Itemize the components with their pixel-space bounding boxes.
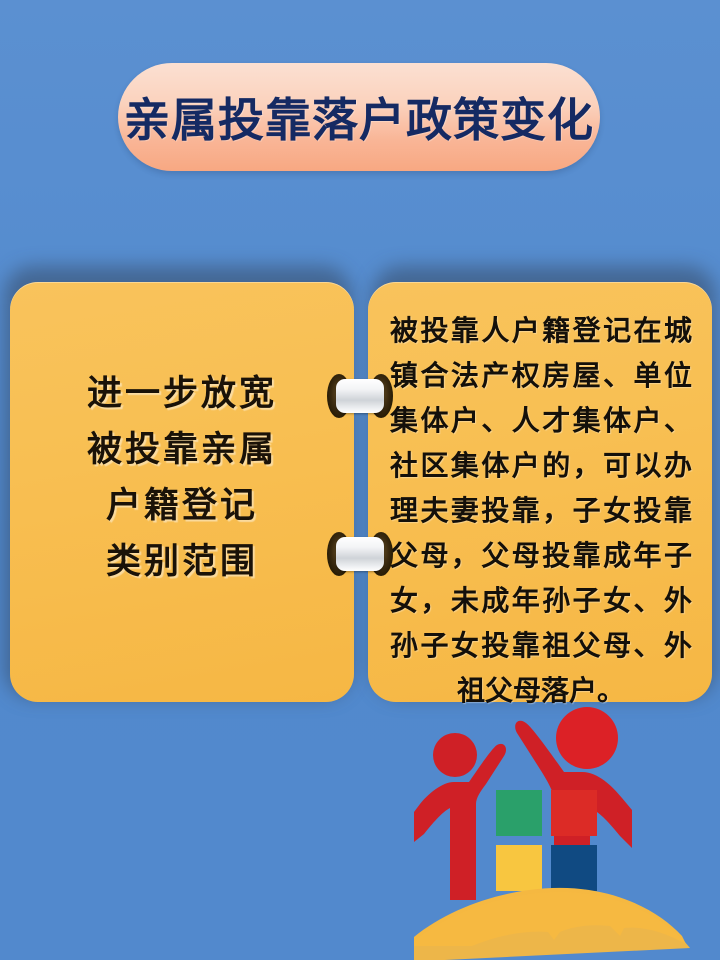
window-bottom-right: [551, 845, 597, 891]
ring-barrel: [336, 379, 384, 413]
ground-arc-fill-icon: [414, 892, 690, 960]
binder-ring-bottom: [327, 532, 393, 576]
window-top-right: [551, 790, 597, 836]
content-cards: 进一步放宽 被投靠亲属 户籍登记 类别范围 被投靠人户籍登记在城镇合法产权房屋、…: [0, 246, 720, 716]
window-top-left: [496, 790, 542, 836]
left-card-line-1: 进一步放宽: [10, 366, 354, 422]
title-banner: 亲属投靠落户政策变化: [118, 63, 600, 171]
family-house-logo: [414, 700, 720, 960]
binder-ring-top: [327, 374, 393, 418]
left-card-line-3: 户籍登记: [10, 478, 354, 534]
ring-barrel: [336, 537, 384, 571]
right-card: 被投靠人户籍登记在城镇合法产权房屋、单位集体户、人才集体户、社区集体户的，可以办…: [368, 282, 712, 702]
left-card-text: 进一步放宽 被投靠亲属 户籍登记 类别范围: [10, 366, 354, 590]
left-figure-head-icon: [433, 733, 477, 777]
window-bottom-left: [496, 845, 542, 891]
left-card-line-2: 被投靠亲属: [10, 422, 354, 478]
left-card: 进一步放宽 被投靠亲属 户籍登记 类别范围: [10, 282, 354, 702]
page-title: 亲属投靠落户政策变化: [118, 63, 600, 171]
right-card-body: 被投靠人户籍登记在城镇合法产权房屋、单位集体户、人才集体户、社区集体户的，可以办…: [390, 308, 692, 713]
right-figure-head-icon: [556, 707, 618, 769]
left-card-line-4: 类别范围: [10, 534, 354, 590]
infographic-root: 亲属投靠落户政策变化 进一步放宽 被投靠亲属 户籍登记 类别范围 被投靠人户籍登…: [0, 0, 720, 960]
